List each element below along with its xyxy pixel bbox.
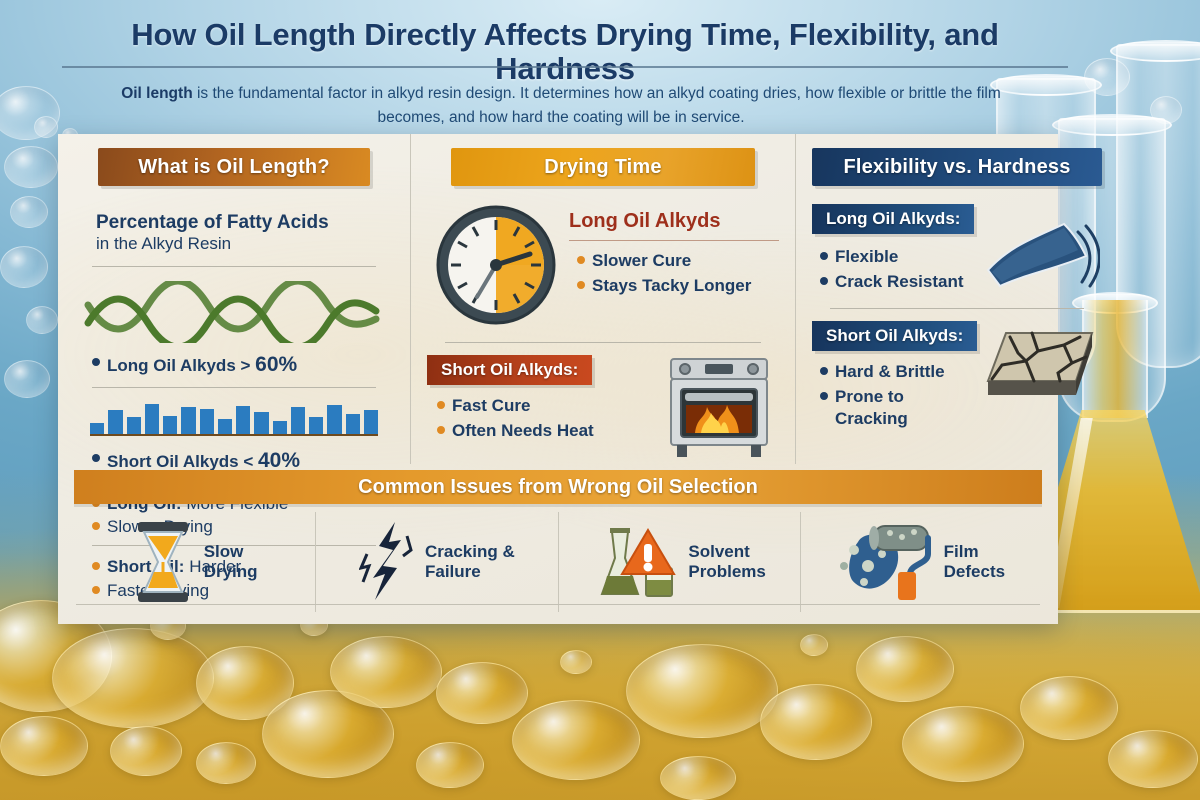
flexible-sheet-icon [982,212,1100,296]
item-text: Flexible [835,246,898,267]
item-text: Crack Resistant [835,271,964,292]
bullet-dot-icon [820,392,828,400]
bullet-dot-icon [820,367,828,375]
column-2-header: Drying Time [451,148,755,186]
long-oil-item: Flexible [820,246,982,267]
issue-label-line1: Slow [204,542,258,562]
bar [127,417,141,434]
common-issues-band: Common Issues from Wrong Oil Selection [74,470,1042,504]
fatty-acid-chain-icon [84,281,384,343]
bar [163,416,177,434]
bar [200,409,214,434]
divider [92,387,376,388]
item-text: Hard & Brittle [835,361,945,382]
item-text: Slower Cure [592,250,691,271]
bullet-dot-icon [92,454,100,462]
bar [90,423,104,434]
bullet-dot-icon [577,281,585,289]
short-oil-item: Fast Cure [437,395,665,416]
divider [830,308,1084,309]
paint-roller-icon [838,520,934,604]
column-1-subhead: Percentage of Fatty Acids in the Alkyd R… [96,212,394,254]
bar [291,407,305,434]
issue-label: Cracking & Failure [425,542,515,581]
bar [309,417,323,434]
intro-lead: Oil length [121,85,192,102]
item-text: Often Needs Heat [452,420,594,441]
bullet-dot-icon [437,426,445,434]
column-1-header: What is Oil Length? [98,148,370,186]
column-drying-time: Drying Time [410,134,795,464]
bullet-value: 40% [258,449,300,472]
long-oil-item: Stays Tacky Longer [577,275,779,296]
issue-solvent-problems: Solvent Problems [558,512,800,612]
issue-slow-drying: Slow Drying [74,512,315,612]
columns-row: What is Oil Length? Percentage of Fatty … [58,134,1058,464]
issue-label: Solvent Problems [688,542,765,581]
item-text: Stays Tacky Longer [592,275,751,296]
issue-label: Film Defects [944,542,1005,581]
bar [181,407,195,434]
column-flexibility-vs-hardness: Flexibility vs. Hardness Long Oil Alkyds… [795,134,1118,464]
short-oil-item: Hard & Brittle [820,361,980,382]
bar [218,419,232,434]
issue-label-line2: Failure [425,562,515,582]
long-oil-item: Slower Cure [577,250,779,271]
bar [145,404,159,434]
long-oil-item: Crack Resistant [820,271,982,292]
common-issues-row: Slow Drying Cracking & Failure [74,512,1042,612]
divider [445,342,761,343]
issue-label-line2: Drying [204,562,258,582]
flask-warning-icon [592,520,678,604]
short-oil-ribbon: Short Oil Alkyds: [427,355,592,385]
subhead-line-1: Percentage of Fatty Acids [96,212,394,234]
bar [364,410,378,434]
bullet-text: Short Oil Alkyds < [107,452,258,471]
oil-length-bar-chart [90,394,378,436]
item-text: Prone to Cracking [835,386,980,429]
issue-label-line1: Cracking & [425,542,515,562]
issue-label-line2: Defects [944,562,1005,582]
long-oil-ribbon: Long Oil Alkyds: [812,204,974,234]
infographic-canvas: How Oil Length Directly Affects Drying T… [0,0,1200,800]
issue-label: Slow Drying [204,542,258,581]
short-oil-item: Often Needs Heat [437,420,665,441]
bar [327,405,341,434]
issue-label-line1: Solvent [688,542,765,562]
bullet-dot-icon [820,252,828,260]
content-card: What is Oil Length? Percentage of Fatty … [58,134,1058,624]
oven-icon [665,355,773,459]
intro-paragraph: Oil length is the fundamental factor in … [116,82,1006,130]
issue-film-defects: Film Defects [800,512,1042,612]
title-divider [62,66,1068,68]
issue-label-line1: Film [944,542,1005,562]
intro-body: is the fundamental factor in alkyd resin… [193,85,1001,126]
bar [236,406,250,434]
page-title: How Oil Length Directly Affects Drying T… [60,18,1070,86]
bar [273,421,287,434]
hourglass-icon [132,520,194,604]
clock-icon [433,202,559,328]
subhead-line-2: in the Alkyd Resin [96,234,394,254]
bullet-long-oil-percent: Long Oil Alkyds > 60% [92,352,394,378]
divider [92,266,376,267]
cracked-slab-icon [980,323,1100,411]
long-oil-title: Long Oil Alkyds [569,210,779,233]
crack-lightning-icon [359,520,415,604]
short-oil-ribbon: Short Oil Alkyds: [812,321,977,351]
bullet-text: Long Oil Alkyds > [107,356,255,375]
divider [569,240,779,241]
bullet-value: 60% [255,353,297,376]
background-oil-layer-2 [0,610,1200,800]
bottom-divider [76,604,1040,605]
bullet-dot-icon [577,256,585,264]
column-3-header: Flexibility vs. Hardness [812,148,1102,186]
bullet-dot-icon [92,358,100,366]
issue-label-line2: Problems [688,562,765,582]
bullet-dot-icon [437,401,445,409]
bar [346,414,360,434]
short-oil-item: Prone to Cracking [820,386,980,429]
bar [108,410,122,434]
bullet-dot-icon [820,277,828,285]
bar [254,412,268,434]
column-what-is-oil-length: What is Oil Length? Percentage of Fatty … [58,134,410,464]
item-text: Fast Cure [452,395,530,416]
issue-cracking-failure: Cracking & Failure [315,512,557,612]
